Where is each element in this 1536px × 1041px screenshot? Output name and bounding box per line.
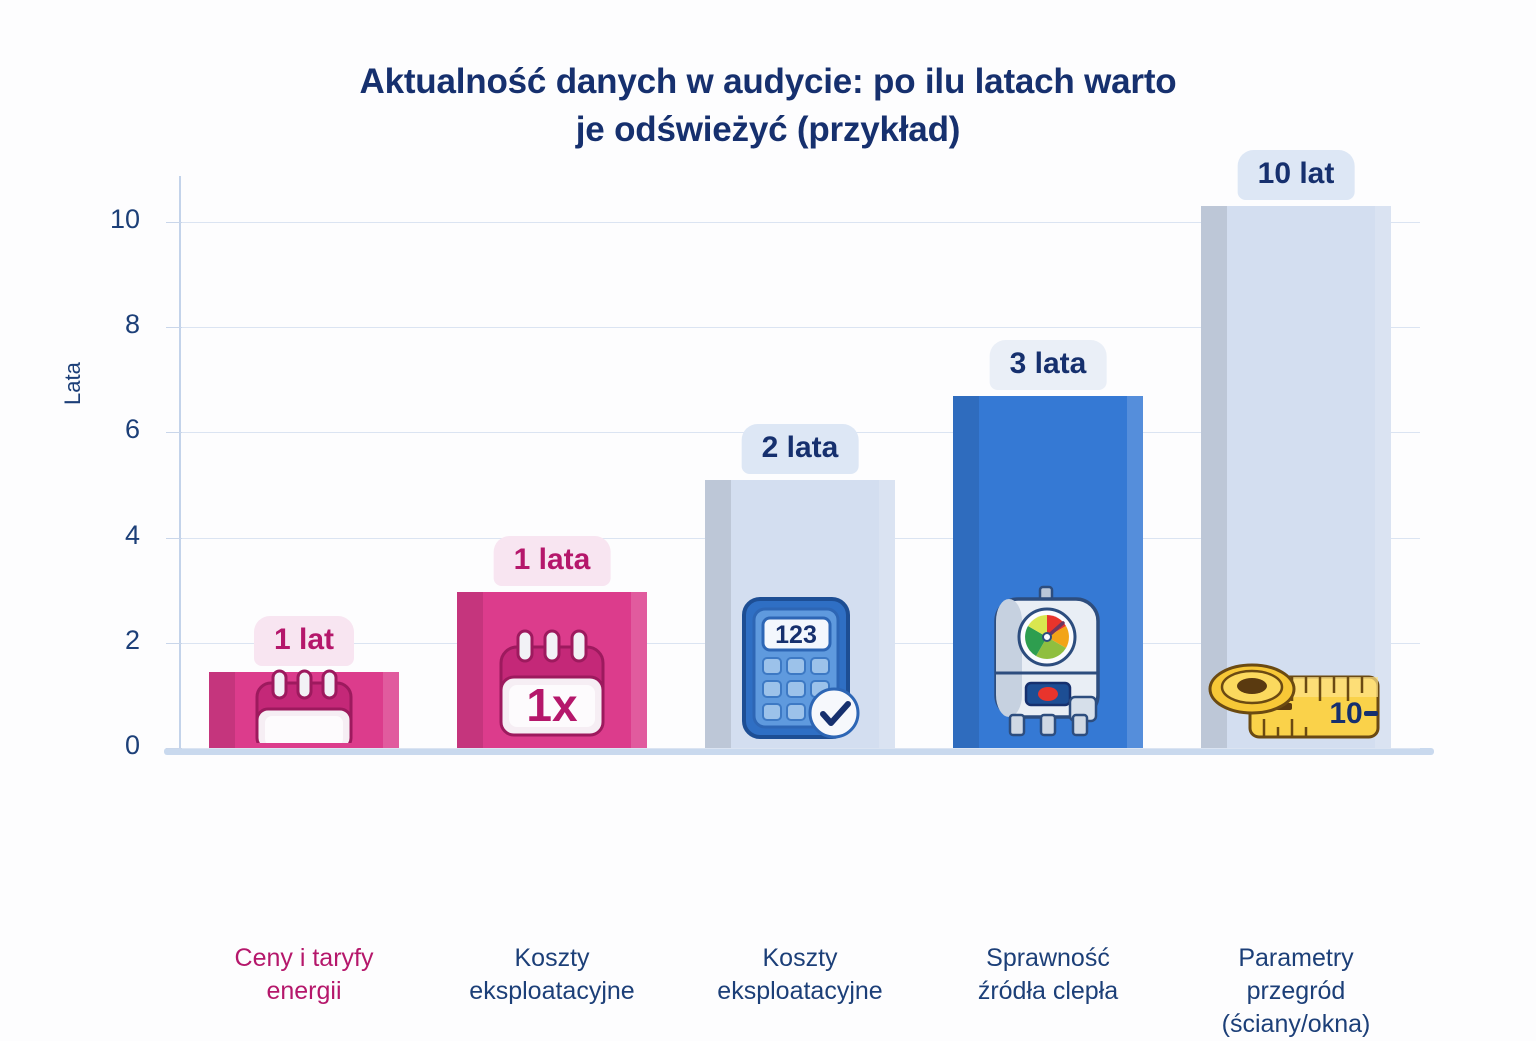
bar-value-label: 3 lata <box>990 340 1107 390</box>
category-label-line: eksploatacyjne <box>676 975 924 1008</box>
category-label-line: energii <box>180 975 428 1008</box>
category-label-line: Koszty <box>676 942 924 975</box>
category-label: Parametryprzegród(ściany/okna) <box>1172 942 1420 1041</box>
category-label-line: Koszty <box>428 942 676 975</box>
gridline <box>180 748 1420 749</box>
y-tick-label: 6 <box>70 414 140 445</box>
bar-highlight <box>631 592 647 748</box>
y-tick-label: 0 <box>70 730 140 761</box>
chart-title-line-2: je odświeżyć (przykład) <box>0 106 1536 154</box>
y-tick-label: 4 <box>70 520 140 551</box>
category-label: Ceny i taryfyenergii <box>180 942 428 1008</box>
bar-value-label: 2 lata <box>742 424 859 474</box>
bar-group[interactable]: 1 lat <box>209 180 399 748</box>
category-label-line: Sprawność <box>924 942 1172 975</box>
bar-group[interactable]: 10 10 lat <box>1201 180 1391 748</box>
bar[interactable] <box>953 396 1143 748</box>
category-label: Kosztyeksploatacyjne <box>428 942 676 1008</box>
bar-edge-shadow <box>953 396 979 748</box>
y-axis-line <box>179 176 181 748</box>
category-label-line: Ceny i taryfy <box>180 942 428 975</box>
bar[interactable] <box>457 592 647 748</box>
category-label: Sprawnośćźródła clepła <box>924 942 1172 1008</box>
y-tick-mark <box>166 643 182 644</box>
bar-edge-shadow <box>457 592 483 748</box>
chart-title-line-1: Aktualność danych w audycie: po ilu lata… <box>360 62 1177 101</box>
category-label-line: źródła clepła <box>924 975 1172 1008</box>
bar-edge-shadow <box>209 672 235 748</box>
bar-highlight <box>1375 206 1391 748</box>
bar[interactable] <box>705 480 895 748</box>
chart-title: Aktualność danych w audycie: po ilu lata… <box>0 58 1536 154</box>
y-tick-mark <box>166 432 182 433</box>
bar-value-label: 10 lat <box>1238 150 1355 200</box>
y-tick-mark <box>166 748 182 749</box>
bar[interactable] <box>209 672 399 748</box>
y-tick-label: 10 <box>70 204 140 235</box>
category-label-line: przegród <box>1172 975 1420 1008</box>
bar-group[interactable]: 3 lata <box>953 180 1143 748</box>
bar-edge-shadow <box>1201 206 1227 748</box>
bar-highlight <box>879 480 895 748</box>
category-label-line: (ściany/okna) <box>1172 1008 1420 1041</box>
bar[interactable] <box>1201 206 1391 748</box>
bar-edge-shadow <box>705 480 731 748</box>
y-tick-mark <box>166 327 182 328</box>
y-tick-mark <box>166 538 182 539</box>
plot-area: 0246810 1 lat 1x 1 lata 123 <box>180 180 1420 748</box>
bar-value-label: 1 lata <box>494 536 611 586</box>
bar-group[interactable]: 1x 1 lata <box>457 180 647 748</box>
category-label-line: Parametry <box>1172 942 1420 975</box>
y-tick-mark <box>166 222 182 223</box>
bar-group[interactable]: 123 2 lata <box>705 180 895 748</box>
y-tick-label: 8 <box>70 309 140 340</box>
bar-value-label: 1 lat <box>254 616 354 666</box>
y-tick-label: 2 <box>70 625 140 656</box>
bar-highlight <box>383 672 399 748</box>
category-label: Kosztyeksploatacyjne <box>676 942 924 1008</box>
category-label-line: eksploatacyjne <box>428 975 676 1008</box>
bar-highlight <box>1127 396 1143 748</box>
y-axis-title: Lata <box>60 362 86 405</box>
x-axis-line <box>164 748 1434 755</box>
